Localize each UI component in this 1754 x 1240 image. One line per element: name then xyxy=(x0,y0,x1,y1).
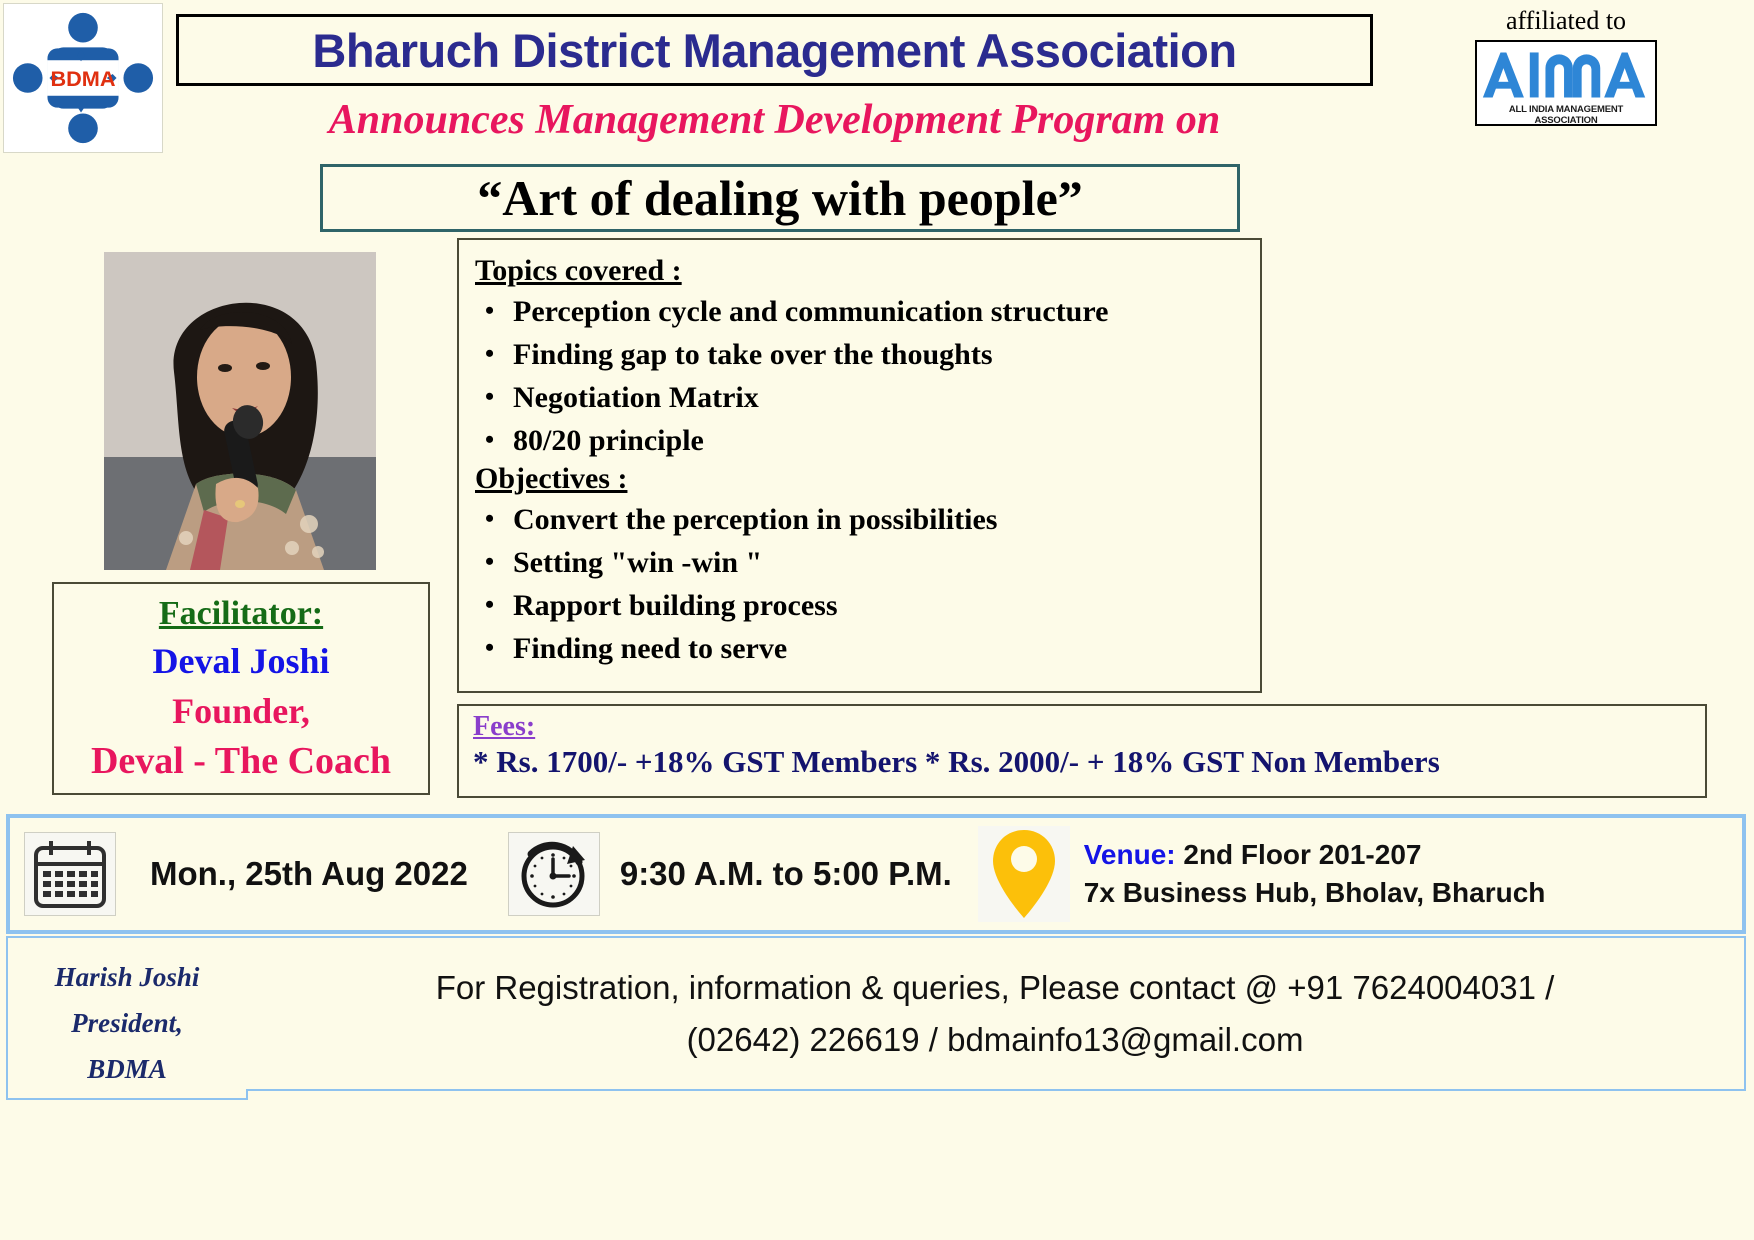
affiliation-block: affiliated to xyxy=(1382,4,1750,132)
list-item: Finding gap to take over the thoughts xyxy=(477,333,1260,376)
list-item: 80/20 principle xyxy=(477,419,1260,462)
objectives-heading: Objectives : xyxy=(475,462,627,496)
calendar-icon xyxy=(24,832,116,916)
facilitator-photo-image xyxy=(104,252,376,570)
fees-label: Fees: xyxy=(473,712,535,742)
footer: Harish Joshi President, BDMA For Registr… xyxy=(6,936,1746,1236)
svg-text:BDMA: BDMA xyxy=(50,66,115,91)
president-name: Harish Joshi xyxy=(8,954,246,1000)
map-pin-icon-glyph xyxy=(989,826,1059,922)
venue-label: Venue: xyxy=(1084,839,1176,870)
facilitator-name: Deval Joshi xyxy=(54,636,428,686)
map-pin-icon xyxy=(978,826,1070,922)
topics-heading: Topics covered : xyxy=(475,254,682,288)
program-title-text: “Art of dealing with people” xyxy=(477,169,1083,227)
facilitator-box: Facilitator: Deval Joshi Founder, Deval … xyxy=(52,582,430,795)
aima-logo-icon xyxy=(1477,42,1655,104)
list-item: Perception cycle and communication struc… xyxy=(477,290,1260,333)
announcement-text: Announces Management Development Program… xyxy=(329,96,1220,144)
venue-address-line2: 7x Business Hub, Bholav, Bharuch xyxy=(1084,874,1546,912)
contact-box: For Registration, information & queries,… xyxy=(246,936,1746,1091)
president-box: Harish Joshi President, BDMA xyxy=(6,936,248,1100)
venue-address-line1: 2nd Floor 201-207 xyxy=(1183,839,1421,870)
president-title: President, xyxy=(8,1000,246,1046)
event-time: 9:30 A.M. to 5:00 P.M. xyxy=(620,855,952,893)
event-date: Mon., 25th Aug 2022 xyxy=(150,855,468,893)
organisation-title-text: Bharuch District Management Association xyxy=(312,23,1236,78)
venue-block: Venue: 2nd Floor 201-207 7x Business Hub… xyxy=(1084,836,1546,912)
fees-box: Fees: * Rs. 1700/- +18% GST Members * Rs… xyxy=(457,704,1707,798)
clock-icon-glyph xyxy=(517,838,591,910)
president-organisation: BDMA xyxy=(8,1046,246,1092)
topics-objectives-box: Topics covered : Perception cycle and co… xyxy=(457,238,1262,693)
affiliated-label: affiliated to xyxy=(1382,4,1750,38)
facilitator-organisation: Deval - The Coach xyxy=(54,736,428,786)
contact-line-2: (02642) 226619 / bdmainfo13@gmail.com xyxy=(687,1014,1304,1066)
contact-line-1: For Registration, information & queries,… xyxy=(436,962,1555,1014)
list-item: Convert the perception in possibilities xyxy=(477,498,1260,541)
event-info-bar: Mon., 25th Aug 2022 9:3 xyxy=(6,814,1746,934)
aima-fullname: ALL INDIA MANAGEMENT ASSOCIATION xyxy=(1477,104,1655,126)
aima-logo: ALL INDIA MANAGEMENT ASSOCIATION xyxy=(1475,40,1657,126)
facilitator-role: Founder, xyxy=(54,686,428,736)
flyer-root: BDMA Bharuch District Management Associa… xyxy=(0,0,1754,1240)
list-item: Rapport building process xyxy=(477,584,1260,627)
list-item: Setting "win -win " xyxy=(477,541,1260,584)
objectives-list: Convert the perception in possibilities … xyxy=(467,498,1260,670)
calendar-icon-glyph xyxy=(33,839,107,909)
program-title-box: “Art of dealing with people” xyxy=(320,164,1240,232)
list-item: Finding need to serve xyxy=(477,627,1260,670)
venue-line-1: Venue: 2nd Floor 201-207 xyxy=(1084,836,1546,874)
topics-list: Perception cycle and communication struc… xyxy=(467,290,1260,462)
announcement-line: Announces Management Development Program… xyxy=(176,92,1373,148)
facilitator-photo xyxy=(104,252,376,570)
organisation-title: Bharuch District Management Association xyxy=(176,14,1373,86)
header: BDMA Bharuch District Management Associa… xyxy=(0,0,1754,152)
clock-icon xyxy=(508,832,600,916)
fees-text: * Rs. 1700/- +18% GST Members * Rs. 2000… xyxy=(473,742,1705,782)
bdma-logo-icon: BDMA xyxy=(4,4,162,152)
list-item: Negotiation Matrix xyxy=(477,376,1260,419)
bdma-logo: BDMA xyxy=(3,3,163,153)
facilitator-label: Facilitator: xyxy=(54,592,428,636)
